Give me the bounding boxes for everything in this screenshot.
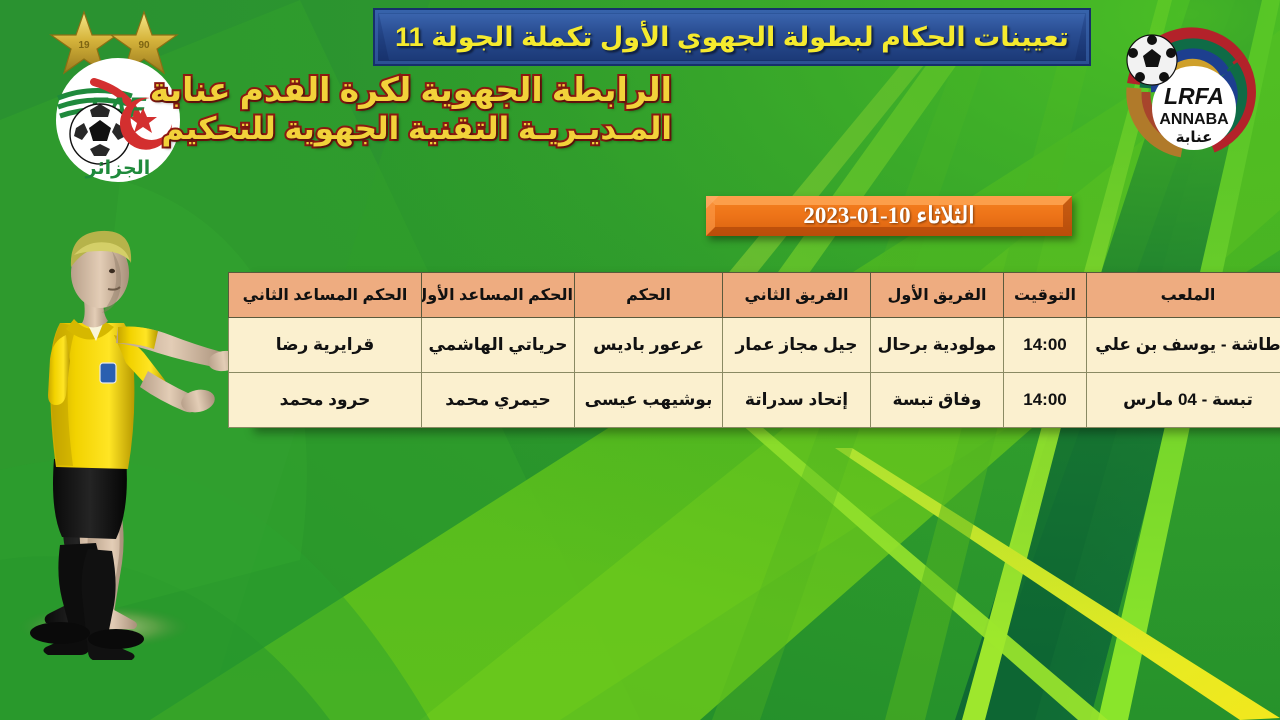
column-header-assistant1: الحكم المساعد الأول xyxy=(422,273,575,318)
table-row: طاشة - يوسف بن علي 14:00 مولودية برحال ج… xyxy=(229,318,1280,373)
column-header-referee: الحكم xyxy=(575,273,723,318)
cell-team2: إتحاد سدراتة xyxy=(723,373,871,428)
poster-title-bar: تعيينات الحكام لبطولة الجهوي الأول تكملة… xyxy=(373,8,1091,66)
organization-heading: الرابطة الجهوية لكرة القدم عنابة المـديـ… xyxy=(172,70,672,148)
column-header-time: التوقيت xyxy=(1004,273,1087,318)
cell-team1: وفاق تبسة xyxy=(871,373,1004,428)
column-header-assistant2: الحكم المساعد الثاني xyxy=(229,273,422,318)
cell-assistant1: حرياتي الهاشمي xyxy=(422,318,575,373)
date-banner: الثلاثاء 10-01-2023 xyxy=(706,196,1072,236)
referee-illustration xyxy=(8,215,238,660)
org-line-1: الرابطة الجهوية لكرة القدم عنابة xyxy=(172,70,672,110)
cell-assistant1: حيمري محمد xyxy=(422,373,575,428)
cell-team1: مولودية برحال xyxy=(871,318,1004,373)
svg-text:90: 90 xyxy=(138,40,150,51)
schedule-table-container: الملعب التوقيت الفريق الأول الفريق الثان… xyxy=(250,272,1280,428)
cell-referee: بوشيهب عيسى xyxy=(575,373,723,428)
cell-time: 14:00 xyxy=(1004,373,1087,428)
lrfa-wordmark: LRFA xyxy=(1164,83,1224,109)
page-title: تعيينات الحكام لبطولة الجهوي الأول تكملة… xyxy=(395,22,1069,53)
cell-team2: جيل مجاز عمار xyxy=(723,318,871,373)
column-header-team2: الفريق الثاني xyxy=(723,273,871,318)
poster-canvas: 19 90 FAF xyxy=(0,0,1280,720)
faf-caption: الجزائر xyxy=(85,157,151,179)
table-row: تبسة - 04 مارس 14:00 وفاق تبسة إتحاد سدر… xyxy=(229,373,1280,428)
match-date: الثلاثاء 10-01-2023 xyxy=(803,203,974,229)
cell-assistant2: حرود محمد xyxy=(229,373,422,428)
cell-referee: عرعور باديس xyxy=(575,318,723,373)
soccer-ball-icon xyxy=(1127,35,1177,85)
column-header-stadium: الملعب xyxy=(1087,273,1280,318)
table-header-row: الملعب التوقيت الفريق الأول الفريق الثان… xyxy=(229,273,1280,318)
cell-stadium: تبسة - 04 مارس xyxy=(1087,373,1280,428)
svg-text:19: 19 xyxy=(78,40,90,51)
lrfa-city: ANNABA xyxy=(1159,111,1229,128)
soccer-ball-icon xyxy=(70,104,130,164)
cell-stadium: طاشة - يوسف بن علي xyxy=(1087,318,1280,373)
lrfa-city-arabic: عنابة xyxy=(1176,128,1213,146)
column-header-team1: الفريق الأول xyxy=(871,273,1004,318)
cell-time: 14:00 xyxy=(1004,318,1087,373)
lrfa-annaba-logo: A N N A B A L I G U E LRFA ANNABA عنابة xyxy=(1108,6,1276,178)
referee-appointments-table: الملعب التوقيت الفريق الأول الفريق الثان… xyxy=(228,272,1280,428)
cell-assistant2: قرايرية رضا xyxy=(229,318,422,373)
org-line-2: المـديـريـة التقنية الجهوية للتحكيم xyxy=(172,110,672,148)
